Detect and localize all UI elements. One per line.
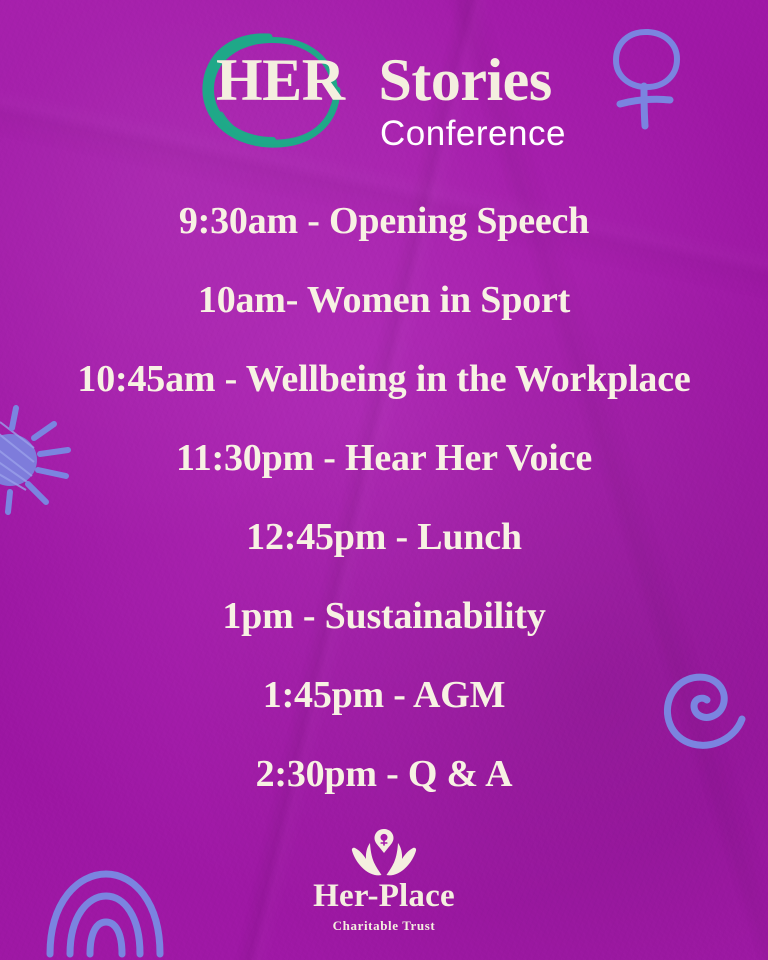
- schedule-item: 10:45am - Wellbeing in the Workplace: [0, 340, 768, 419]
- herstories-logo: HER Stories Conference: [194, 28, 574, 154]
- logo-word-stories: Stories: [379, 50, 552, 110]
- schedule-list: 9:30am - Opening Speech 10am- Women in S…: [0, 182, 768, 814]
- poster-header: HER Stories Conference: [0, 24, 768, 154]
- schedule-item: 12:45pm - Lunch: [0, 498, 768, 577]
- logo-word-her: HER: [216, 50, 345, 110]
- schedule-item: 2:30pm - Q & A: [0, 735, 768, 814]
- schedule-item: 11:30pm - Hear Her Voice: [0, 419, 768, 498]
- schedule-item: 1:45pm - AGM: [0, 656, 768, 735]
- schedule-item: 1pm - Sustainability: [0, 577, 768, 656]
- schedule-item: 9:30am - Opening Speech: [0, 182, 768, 261]
- schedule-item: 10am- Women in Sport: [0, 261, 768, 340]
- poster-footer: Her-Place Charitable Trust: [0, 827, 768, 934]
- logo-wordmark: HER Stories: [194, 50, 574, 110]
- hands-cradling-venus-pin-icon: [348, 827, 420, 877]
- poster-canvas: HER Stories Conference: [0, 0, 768, 960]
- logo-subtitle-conference: Conference: [380, 114, 566, 154]
- footer-brand-name: Her-Place: [0, 879, 768, 915]
- footer-brand-tagline: Charitable Trust: [0, 918, 768, 934]
